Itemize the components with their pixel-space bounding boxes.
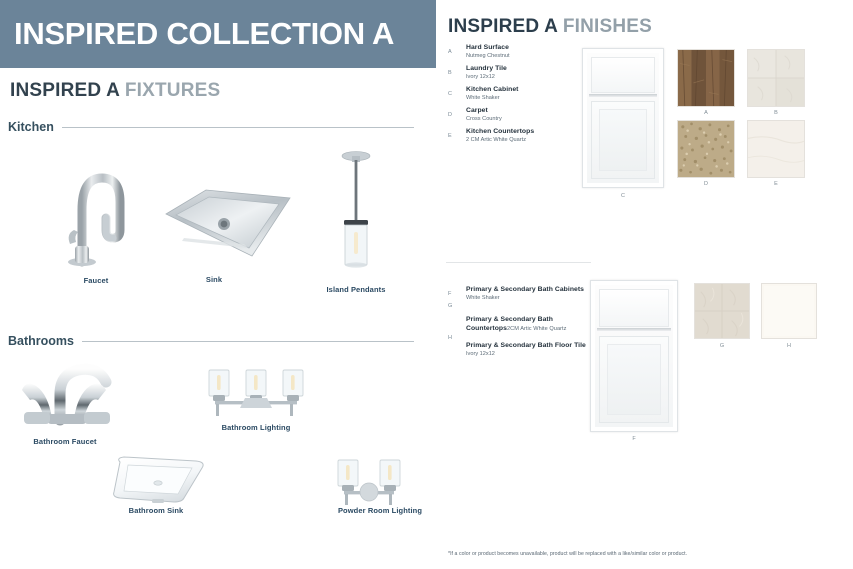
pendant-light-icon xyxy=(332,148,380,273)
fixture-label-sink: Sink xyxy=(184,275,244,284)
section-header-bathrooms: Bathrooms xyxy=(8,334,414,348)
laundry-tile-swatch xyxy=(747,49,805,107)
legend-desc-e: 2 CM Artic White Quartz xyxy=(466,137,593,145)
legend-desc-d: Cross Country xyxy=(466,116,593,124)
vanity-light-2-icon xyxy=(334,458,404,508)
legend-name-g: Primary & Secondary Bath Countertops2CM … xyxy=(466,316,596,333)
swatch-caption-b: B xyxy=(766,110,786,116)
bathroom-faucet-icon xyxy=(14,360,120,428)
legend-name-a: Hard Surface xyxy=(466,44,593,53)
section-rule-bathrooms xyxy=(82,341,414,342)
legend-name-f: Primary & Secondary Bath Cabinets xyxy=(466,286,596,295)
legend-desc-g: 2CM Artic White Quartz xyxy=(507,326,567,332)
finishes-title: INSPIRED A FINISHES xyxy=(448,16,652,38)
swatch-caption-a: A xyxy=(696,110,716,116)
finishes-column: INSPIRED A FINISHES A Hard Surface Nutme… xyxy=(436,0,853,569)
legend-desc-a: Nutmeg Chestnut xyxy=(466,53,593,61)
swatch-caption-h: H xyxy=(779,343,799,349)
legend-key-b: B xyxy=(448,70,452,76)
page-title: INSPIRED COLLECTION A xyxy=(14,14,394,54)
fixture-label-faucet: Faucet xyxy=(56,276,136,285)
legend-key-e: E xyxy=(448,133,452,139)
section-header-kitchen: Kitchen xyxy=(8,120,414,134)
door-reveal-shadow-f xyxy=(597,328,671,331)
door-panel-inset-f xyxy=(607,344,661,415)
legend-item-f: F Primary & Secondary Bath Cabinets Whit… xyxy=(448,286,596,302)
kitchen-sink-icon xyxy=(160,186,296,266)
legend-item-a: A Hard Surface Nutmeg Chestnut xyxy=(448,44,593,60)
fixture-label-powder-room-lighting: Powder Room Lighting xyxy=(318,506,442,515)
fixture-label-island-pendants: Island Pendants xyxy=(316,285,396,294)
kitchen-countertop-swatch xyxy=(747,120,805,178)
legend-name-d: Carpet xyxy=(466,107,593,116)
swatch-caption-d: D xyxy=(696,181,716,187)
swatch-caption-g: G xyxy=(712,343,732,349)
bath-cabinet-door xyxy=(590,280,678,432)
collection-sheet: INSPIRED COLLECTION A INSPIRED A FIXTURE… xyxy=(0,0,853,569)
legend-key-h: H xyxy=(448,335,452,341)
legend-key-f: F xyxy=(448,291,451,297)
legend-name-b: Laundry Tile xyxy=(466,65,593,74)
legend-desc-b: Ivory 12x12 xyxy=(466,74,593,82)
door-panel-inset xyxy=(599,109,647,171)
legend-desc-c: White Shaker xyxy=(466,95,593,103)
door-reveal-shadow xyxy=(589,94,657,97)
legend-desc-h: Ivory 12x12 xyxy=(466,351,596,359)
legend-key-g: G xyxy=(448,303,452,309)
legend-key-c: C xyxy=(448,91,452,97)
legend-key-d: D xyxy=(448,112,452,118)
finishes-title-light: FINISHES xyxy=(563,16,652,37)
bath-floor-tile-swatch xyxy=(761,283,817,339)
fixture-label-bathroom-lighting: Bathroom Lighting xyxy=(200,423,312,432)
finishes-title-bold: INSPIRED A xyxy=(448,16,557,37)
fixture-label-bathroom-faucet: Bathroom Faucet xyxy=(10,437,120,446)
fixture-label-bathroom-sink: Bathroom Sink xyxy=(104,506,208,515)
legend-name-c: Kitchen Cabinet xyxy=(466,86,593,95)
door-drawer-front-f xyxy=(599,289,669,327)
fixtures-column: INSPIRED COLLECTION A INSPIRED A FIXTURE… xyxy=(0,0,436,569)
finishes-legend-top: A Hard Surface Nutmeg Chestnut B Laundry… xyxy=(448,44,593,149)
legend-item-h: H Primary & Secondary Bath Floor Tile Iv… xyxy=(448,342,596,358)
fixtures-subtitle-bold: INSPIRED A xyxy=(10,80,119,101)
door-caption-c: C xyxy=(613,193,633,199)
hard-surface-swatch xyxy=(677,49,735,107)
legend-item-e: E Kitchen Countertops 2 CM Artic White Q… xyxy=(448,128,593,144)
legend-name-e: Kitchen Countertops xyxy=(466,128,593,137)
section-label-kitchen: Kitchen xyxy=(8,120,62,134)
legend-item-d: D Carpet Cross Country xyxy=(448,107,593,123)
door-caption-f: F xyxy=(624,436,644,442)
bath-countertop-swatch xyxy=(694,283,750,339)
door-recessed-panel-f xyxy=(599,336,669,423)
finishes-legend-bottom: F Primary & Secondary Bath Cabinets Whit… xyxy=(448,286,596,363)
undermount-sink-icon xyxy=(104,452,214,507)
legend-desc-f: White Shaker xyxy=(466,295,596,303)
legend-key-a: A xyxy=(448,49,452,55)
legend-item-b: B Laundry Tile Ivory 12x12 xyxy=(448,65,593,81)
disclaimer-note: *If a color or product becomes unavailab… xyxy=(448,551,687,557)
vanity-light-3-icon xyxy=(203,368,309,418)
section-divider xyxy=(446,262,591,263)
legend-item-g: G Primary & Secondary Bath Countertops2C… xyxy=(448,316,596,333)
kitchen-faucet-icon xyxy=(60,158,132,270)
legend-item-c: C Kitchen Cabinet White Shaker xyxy=(448,86,593,102)
door-drawer-front xyxy=(591,57,655,93)
fixtures-subtitle-light: FIXTURES xyxy=(125,80,221,101)
section-rule-kitchen xyxy=(62,127,414,128)
kitchen-cabinet-door xyxy=(582,48,664,188)
fixtures-subtitle: INSPIRED A FIXTURES xyxy=(10,80,220,102)
swatch-caption-e: E xyxy=(766,181,786,187)
section-label-bathrooms: Bathrooms xyxy=(8,334,82,348)
door-recessed-panel xyxy=(591,101,655,179)
carpet-swatch xyxy=(677,120,735,178)
legend-name-h: Primary & Secondary Bath Floor Tile xyxy=(466,342,596,351)
